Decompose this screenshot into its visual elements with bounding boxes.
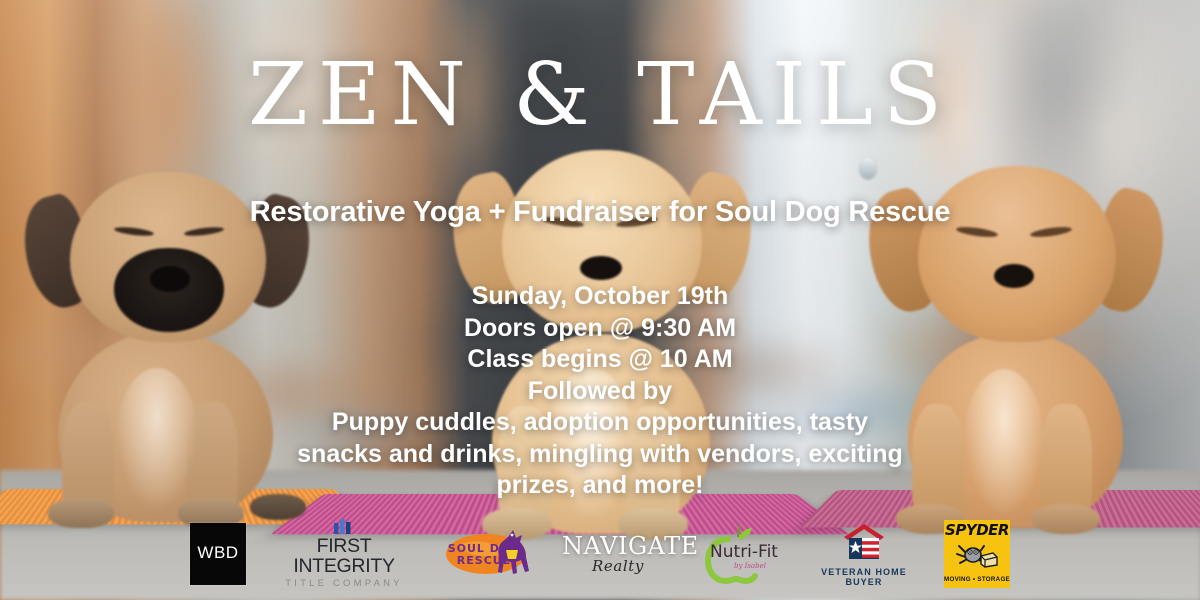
first-integrity-tagline: TITLE COMPANY: [270, 578, 418, 589]
flyer-content: ZEN & TAILS Restorative Yoga + Fundraise…: [0, 0, 1200, 600]
detail-line-date: Sunday, October 19th: [0, 281, 1200, 313]
spyder-wordmark: SPYDER: [945, 523, 1009, 538]
sponsor-logo-nutri-fit[interactable]: Nutri-Fit by Isabel: [698, 523, 784, 585]
first-integrity-wordmark: FIRST INTEGRITY: [270, 536, 418, 577]
spider-icon: [951, 538, 1003, 574]
svg-text:Nutri-Fit: Nutri-Fit: [710, 542, 778, 562]
detail-line-doors: Doors open @ 9:30 AM: [0, 313, 1200, 345]
detail-line-class: Class begins @ 10 AM: [0, 344, 1200, 376]
event-subtitle: Restorative Yoga + Fundraiser for Soul D…: [0, 196, 1200, 229]
sponsor-logo-veteran-home-buyer[interactable]: VETERAN HOME BUYER: [808, 521, 920, 587]
event-details: Sunday, October 19th Doors open @ 9:30 A…: [0, 281, 1200, 502]
wbd-wordmark: WBD: [197, 544, 238, 561]
detail-line-activities-1: Puppy cuddles, adoption opportunities, t…: [0, 407, 1200, 439]
spyder-tagline: MOVING • STORAGE: [944, 576, 1010, 583]
sponsor-logo-spyder-moving-storage[interactable]: SPYDER MOVING • STORAGE: [944, 520, 1010, 588]
sponsor-logo-soul-dog-rescue[interactable]: SOUL DOG RESCUE: [442, 525, 538, 583]
bar-chart-icon: [270, 519, 418, 535]
event-title: ZEN & TAILS: [0, 52, 1200, 138]
sponsor-logo-row: WBD FIRST INTEGRITY TITLE COMPANY SOUL D: [0, 514, 1200, 600]
event-flyer: ZEN & TAILS Restorative Yoga + Fundraise…: [0, 0, 1200, 600]
detail-line-activities-2: snacks and drinks, mingling with vendors…: [0, 439, 1200, 471]
detail-line-followed-by: Followed by: [0, 376, 1200, 408]
sponsor-logo-navigate-realty[interactable]: NAVIGATE Realty: [562, 534, 674, 575]
detail-line-activities-3: prizes, and more!: [0, 470, 1200, 502]
veteran-home-buyer-wordmark: VETERAN HOME BUYER: [808, 567, 920, 587]
navigate-wordmark: NAVIGATE: [562, 534, 674, 558]
sponsor-logo-wbd[interactable]: WBD: [190, 523, 246, 585]
flag-house-icon: [808, 521, 920, 565]
svg-text:by Isabel: by Isabel: [734, 562, 766, 570]
sponsor-logo-first-integrity[interactable]: FIRST INTEGRITY TITLE COMPANY: [270, 519, 418, 590]
